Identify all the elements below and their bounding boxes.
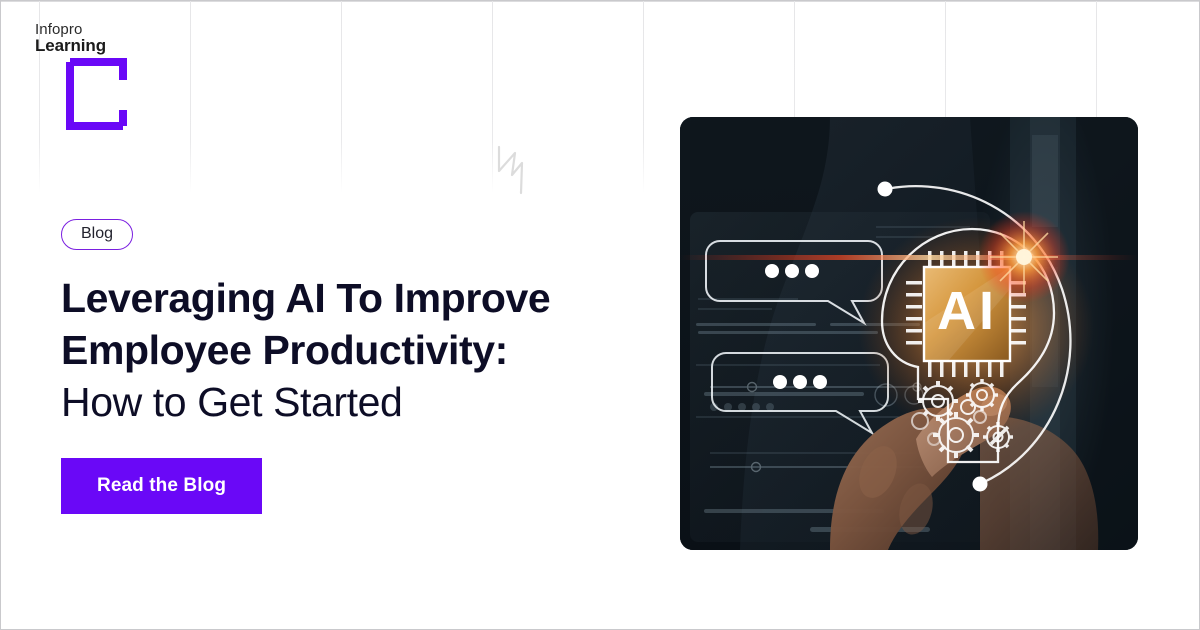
logo-square-mark-icon: [61, 58, 133, 130]
grid-line: [492, 1, 493, 193]
ai-concept-illustration: AI: [680, 117, 1138, 550]
logo-word-infopro: Infopro: [35, 22, 127, 37]
svg-text:AI: AI: [937, 281, 997, 341]
grid-line: [190, 1, 191, 193]
logo-word-learning: Learning: [35, 37, 127, 54]
zigzag-doodle-icon: [495, 141, 539, 195]
headline-line-3: How to Get Started: [61, 376, 641, 428]
hero-image-panel: AI: [680, 117, 1138, 550]
infopro-learning-logo[interactable]: [61, 58, 133, 130]
headline-line-2: Employee Productivity:: [61, 324, 641, 376]
grid-line: [643, 1, 644, 193]
page-title: Leveraging AI To Improve Employee Produc…: [61, 272, 641, 428]
blog-promo-banner: Infopro Learning Blog Leveraging AI To I…: [0, 0, 1200, 630]
headline-line-1: Leveraging AI To Improve: [61, 272, 641, 324]
logo-wordmark: Infopro Learning: [35, 22, 127, 55]
grid-top-rule: [1, 1, 1200, 2]
grid-line: [341, 1, 342, 193]
read-the-blog-button[interactable]: Read the Blog: [61, 458, 262, 514]
content-column: Blog Leveraging AI To Improve Employee P…: [61, 219, 641, 514]
category-badge-blog[interactable]: Blog: [61, 219, 133, 250]
